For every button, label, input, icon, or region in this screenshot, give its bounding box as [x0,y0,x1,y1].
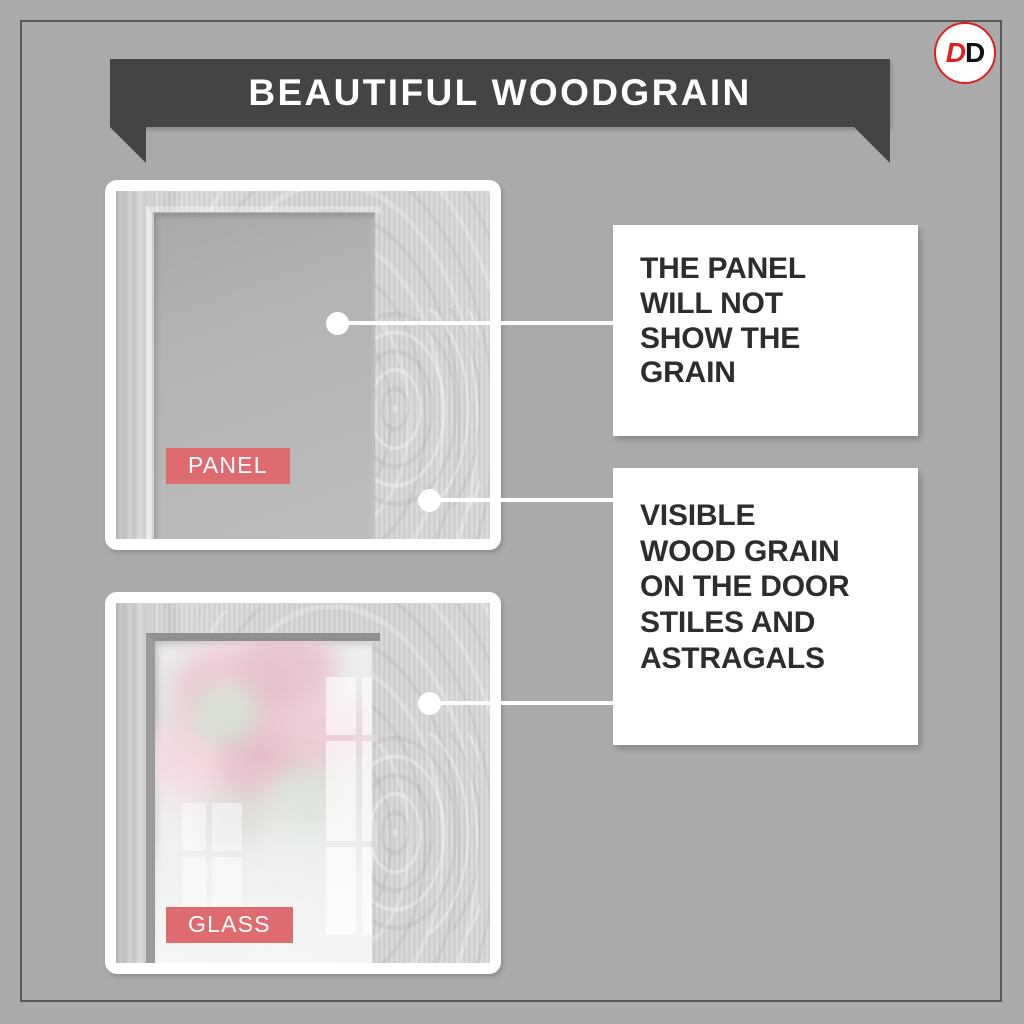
door-flat-panel [152,212,375,539]
door-edge-moulding-2 [116,603,150,963]
window-reflection-pane [362,741,372,841]
connector-line-panel [345,321,615,325]
window-reflection-pane [362,677,372,735]
callout-line: WILL NOT [640,287,918,322]
header-banner-tail-right [854,127,890,163]
callout-line: SHOW THE [640,322,918,357]
callout-panel-grain: THE PANEL WILL NOT SHOW THE GRAIN [613,225,918,436]
callout-line: ASTRAGALS [640,641,918,677]
callout-panel-grain-text: THE PANEL WILL NOT SHOW THE GRAIN [640,252,918,391]
glass-photo-image: GLASS [116,603,490,963]
panel-tag-label: PANEL [166,448,290,484]
callout-line: ON THE DOOR [640,569,918,605]
page-title: BEAUTIFUL WOODGRAIN [110,59,890,127]
callout-line: STILES AND [640,605,918,641]
callout-line: THE PANEL [640,252,918,287]
panel-photo-image: PANEL [116,191,490,539]
window-reflection-pane [212,803,242,851]
callout-line: WOOD GRAIN [640,534,918,570]
logo-letter-second: D [965,37,984,68]
glass-tag-label: GLASS [166,907,293,943]
connector-line-stile-bottom [437,701,615,705]
logo-letter-first: D [946,37,965,68]
header-banner: BEAUTIFUL WOODGRAIN [110,59,890,159]
panel-photo-card: PANEL [105,180,501,550]
window-reflection-pane [326,677,356,735]
callout-line: GRAIN [640,356,918,391]
callout-line: VISIBLE [640,498,918,534]
window-reflection-pane [326,741,356,841]
window-reflection-pane [326,847,356,935]
brand-logo-text: DD [946,39,984,67]
window-reflection-pane [182,803,206,851]
infographic-root: DD BEAUTIFUL WOODGRAIN PANEL [0,0,1024,1024]
window-reflection-pane [362,847,372,935]
callout-visible-grain-text: VISIBLE WOOD GRAIN ON THE DOOR STILES AN… [640,498,918,676]
callout-visible-grain: VISIBLE WOOD GRAIN ON THE DOOR STILES AN… [613,468,918,745]
glass-photo-card: GLASS [105,592,501,974]
connector-line-stile-top [437,498,615,502]
header-banner-tail-left [110,127,146,163]
brand-logo[interactable]: DD [934,22,996,84]
door-edge-moulding [116,191,150,539]
